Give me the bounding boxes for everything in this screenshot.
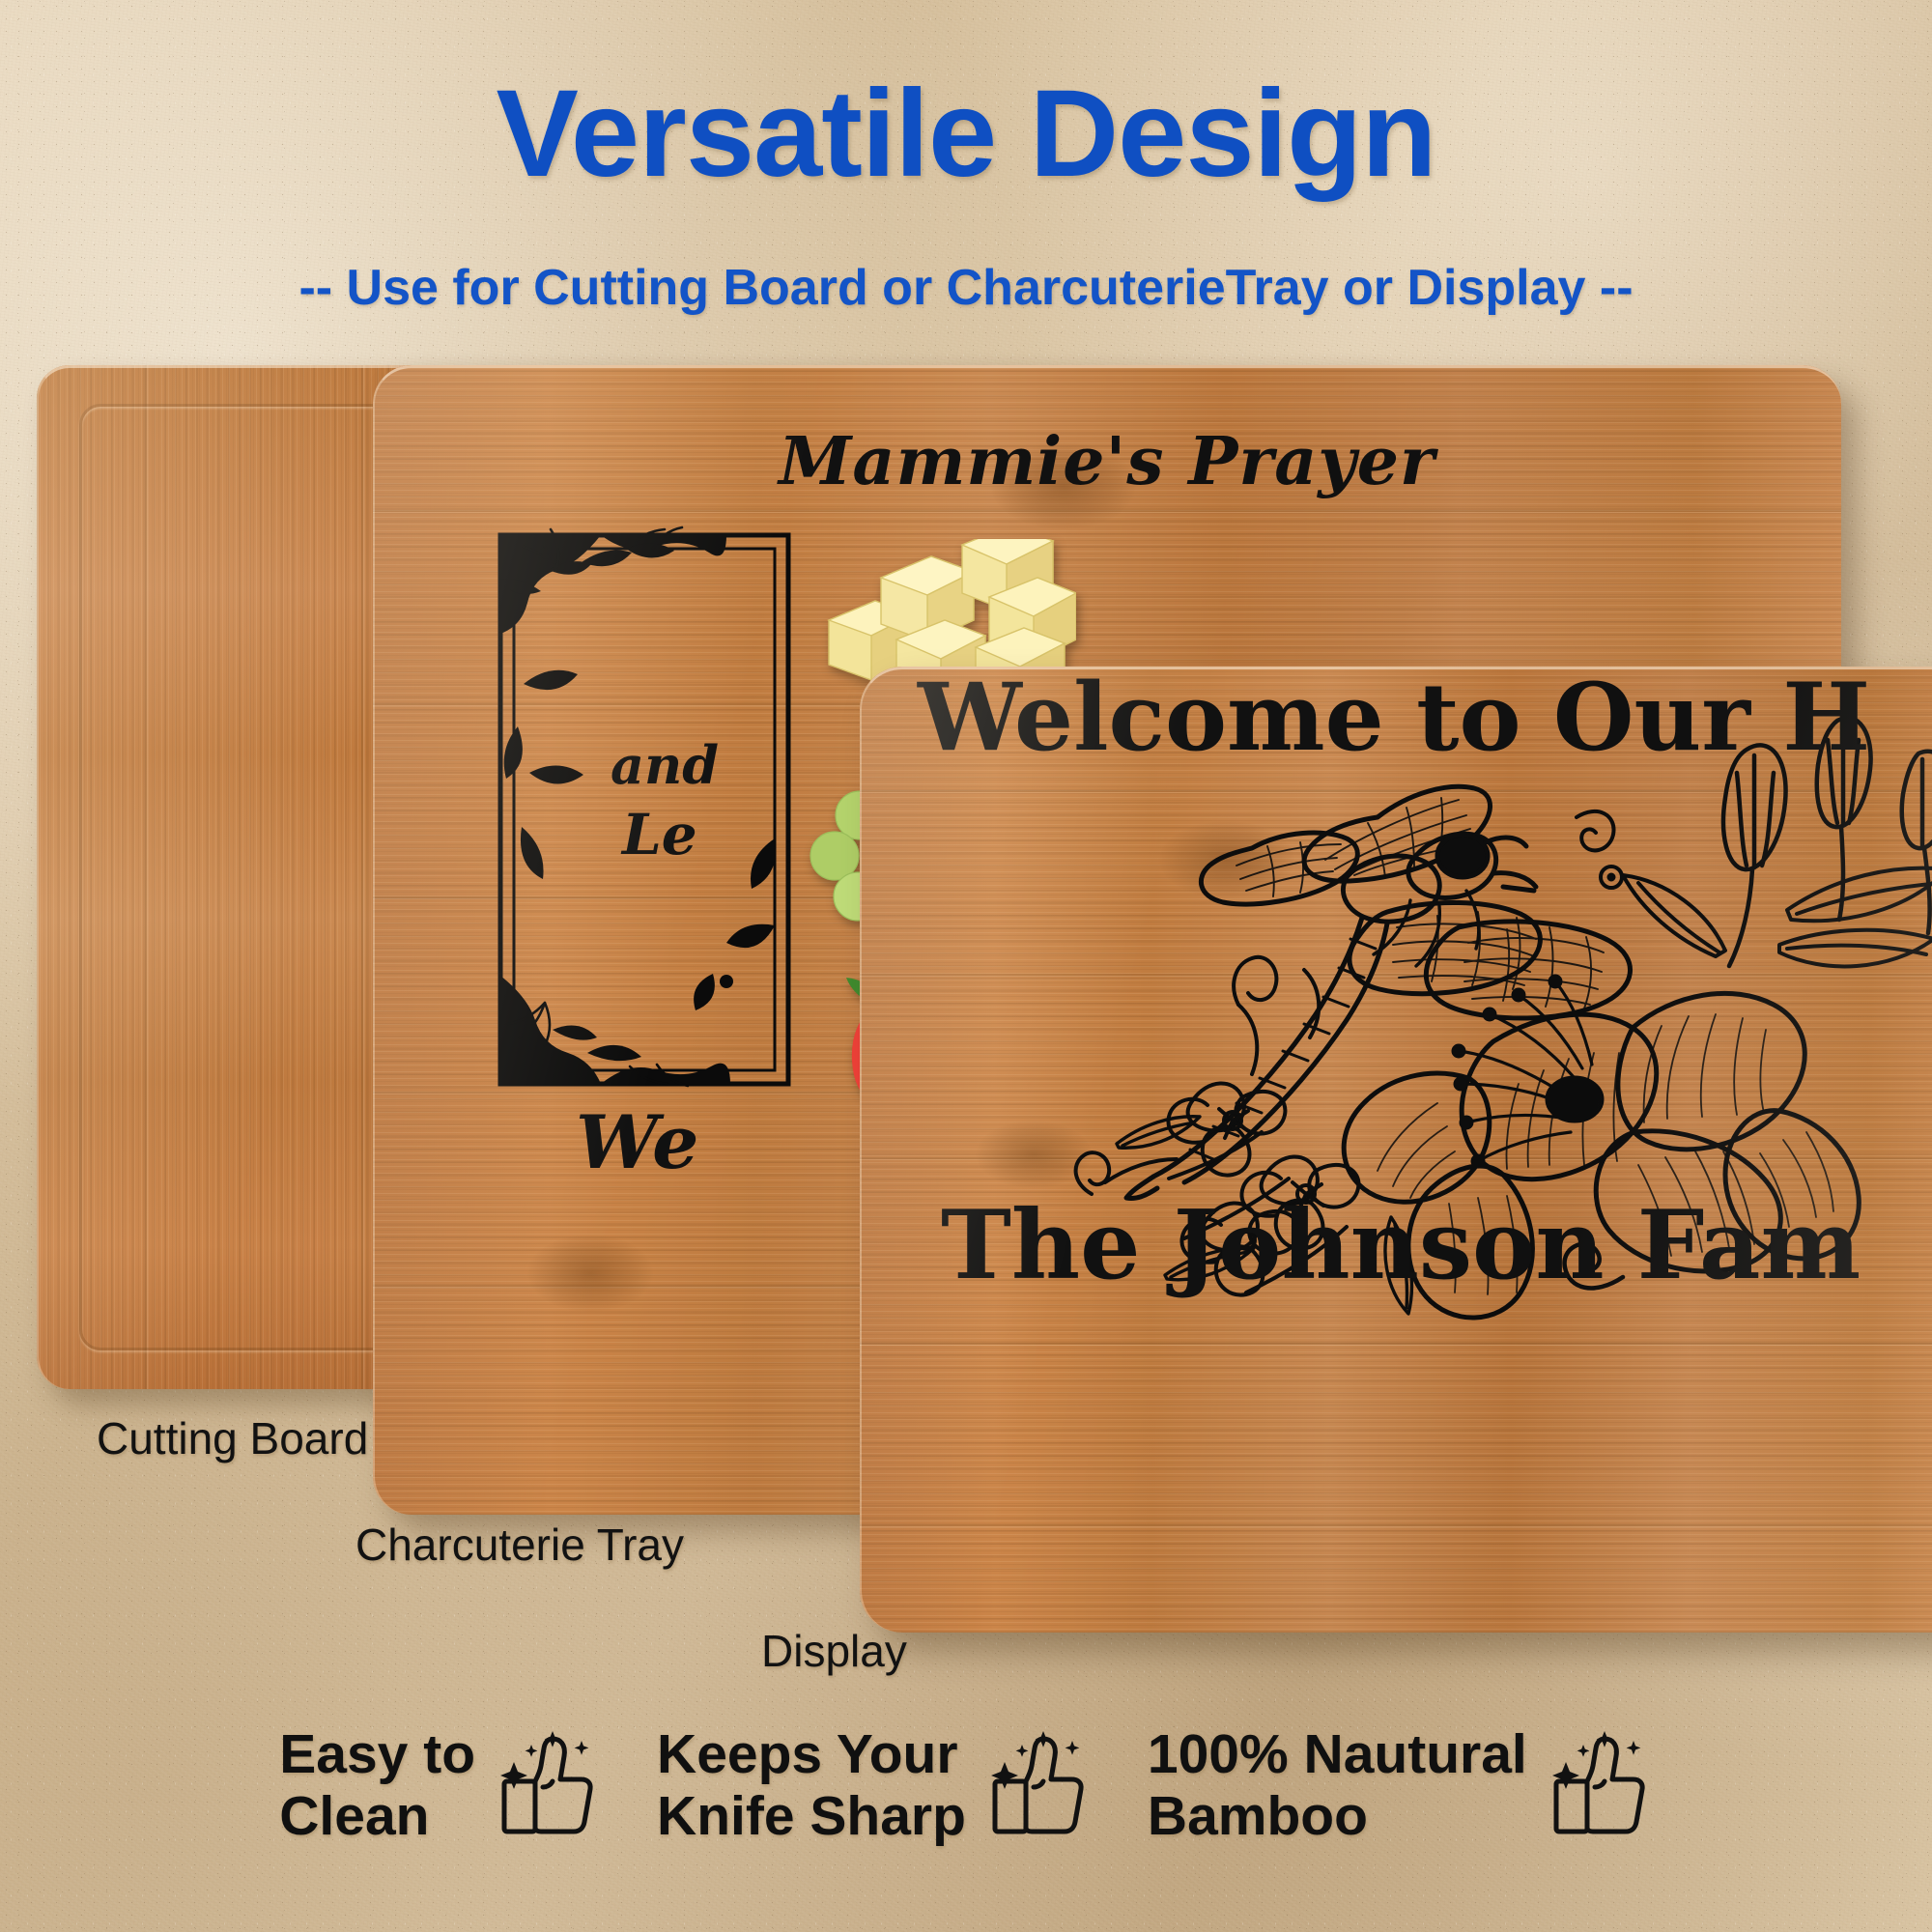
- thumbs-up-sparkle-icon: [983, 1727, 1092, 1845]
- surface-sheen: [860, 667, 1932, 1633]
- feature-natural-bamboo: 100% Nautural Bamboo: [1148, 1724, 1653, 1848]
- feature-strip: Easy to Clean: [0, 1675, 1932, 1897]
- feature-label: Easy to Clean: [279, 1724, 475, 1848]
- callout-display: Display: [761, 1625, 907, 1677]
- thumbs-up-sparkle-icon: [1545, 1727, 1653, 1845]
- feature-label: 100% Nautural Bamboo: [1148, 1724, 1527, 1848]
- feature-keeps-knife-sharp: Keeps Your Knife Sharp: [657, 1724, 1092, 1848]
- feature-label: Keeps Your Knife Sharp: [657, 1724, 966, 1848]
- callout-cutting-board: Cutting Board: [97, 1412, 368, 1464]
- page-title: Versatile Design: [0, 71, 1932, 198]
- feature-line-1: Easy to: [279, 1724, 475, 1786]
- callout-charcuterie-tray: Charcuterie Tray: [355, 1519, 684, 1571]
- feature-easy-to-clean: Easy to Clean: [279, 1724, 601, 1848]
- thumbs-up-sparkle-icon: [493, 1727, 601, 1845]
- feature-line-2: Bamboo: [1148, 1786, 1527, 1848]
- listing-image-canvas: Versatile Design -- Use for Cutting Boar…: [0, 0, 1932, 1932]
- feature-line-1: 100% Nautural: [1148, 1724, 1527, 1786]
- feature-line-2: Clean: [279, 1786, 475, 1848]
- feature-line-2: Knife Sharp: [657, 1786, 966, 1848]
- page-subtitle: -- Use for Cutting Board or CharcuterieT…: [0, 259, 1932, 317]
- feature-line-1: Keeps Your: [657, 1724, 966, 1786]
- board-display[interactable]: Welcome to Our H The Johnson Fam: [860, 667, 1932, 1633]
